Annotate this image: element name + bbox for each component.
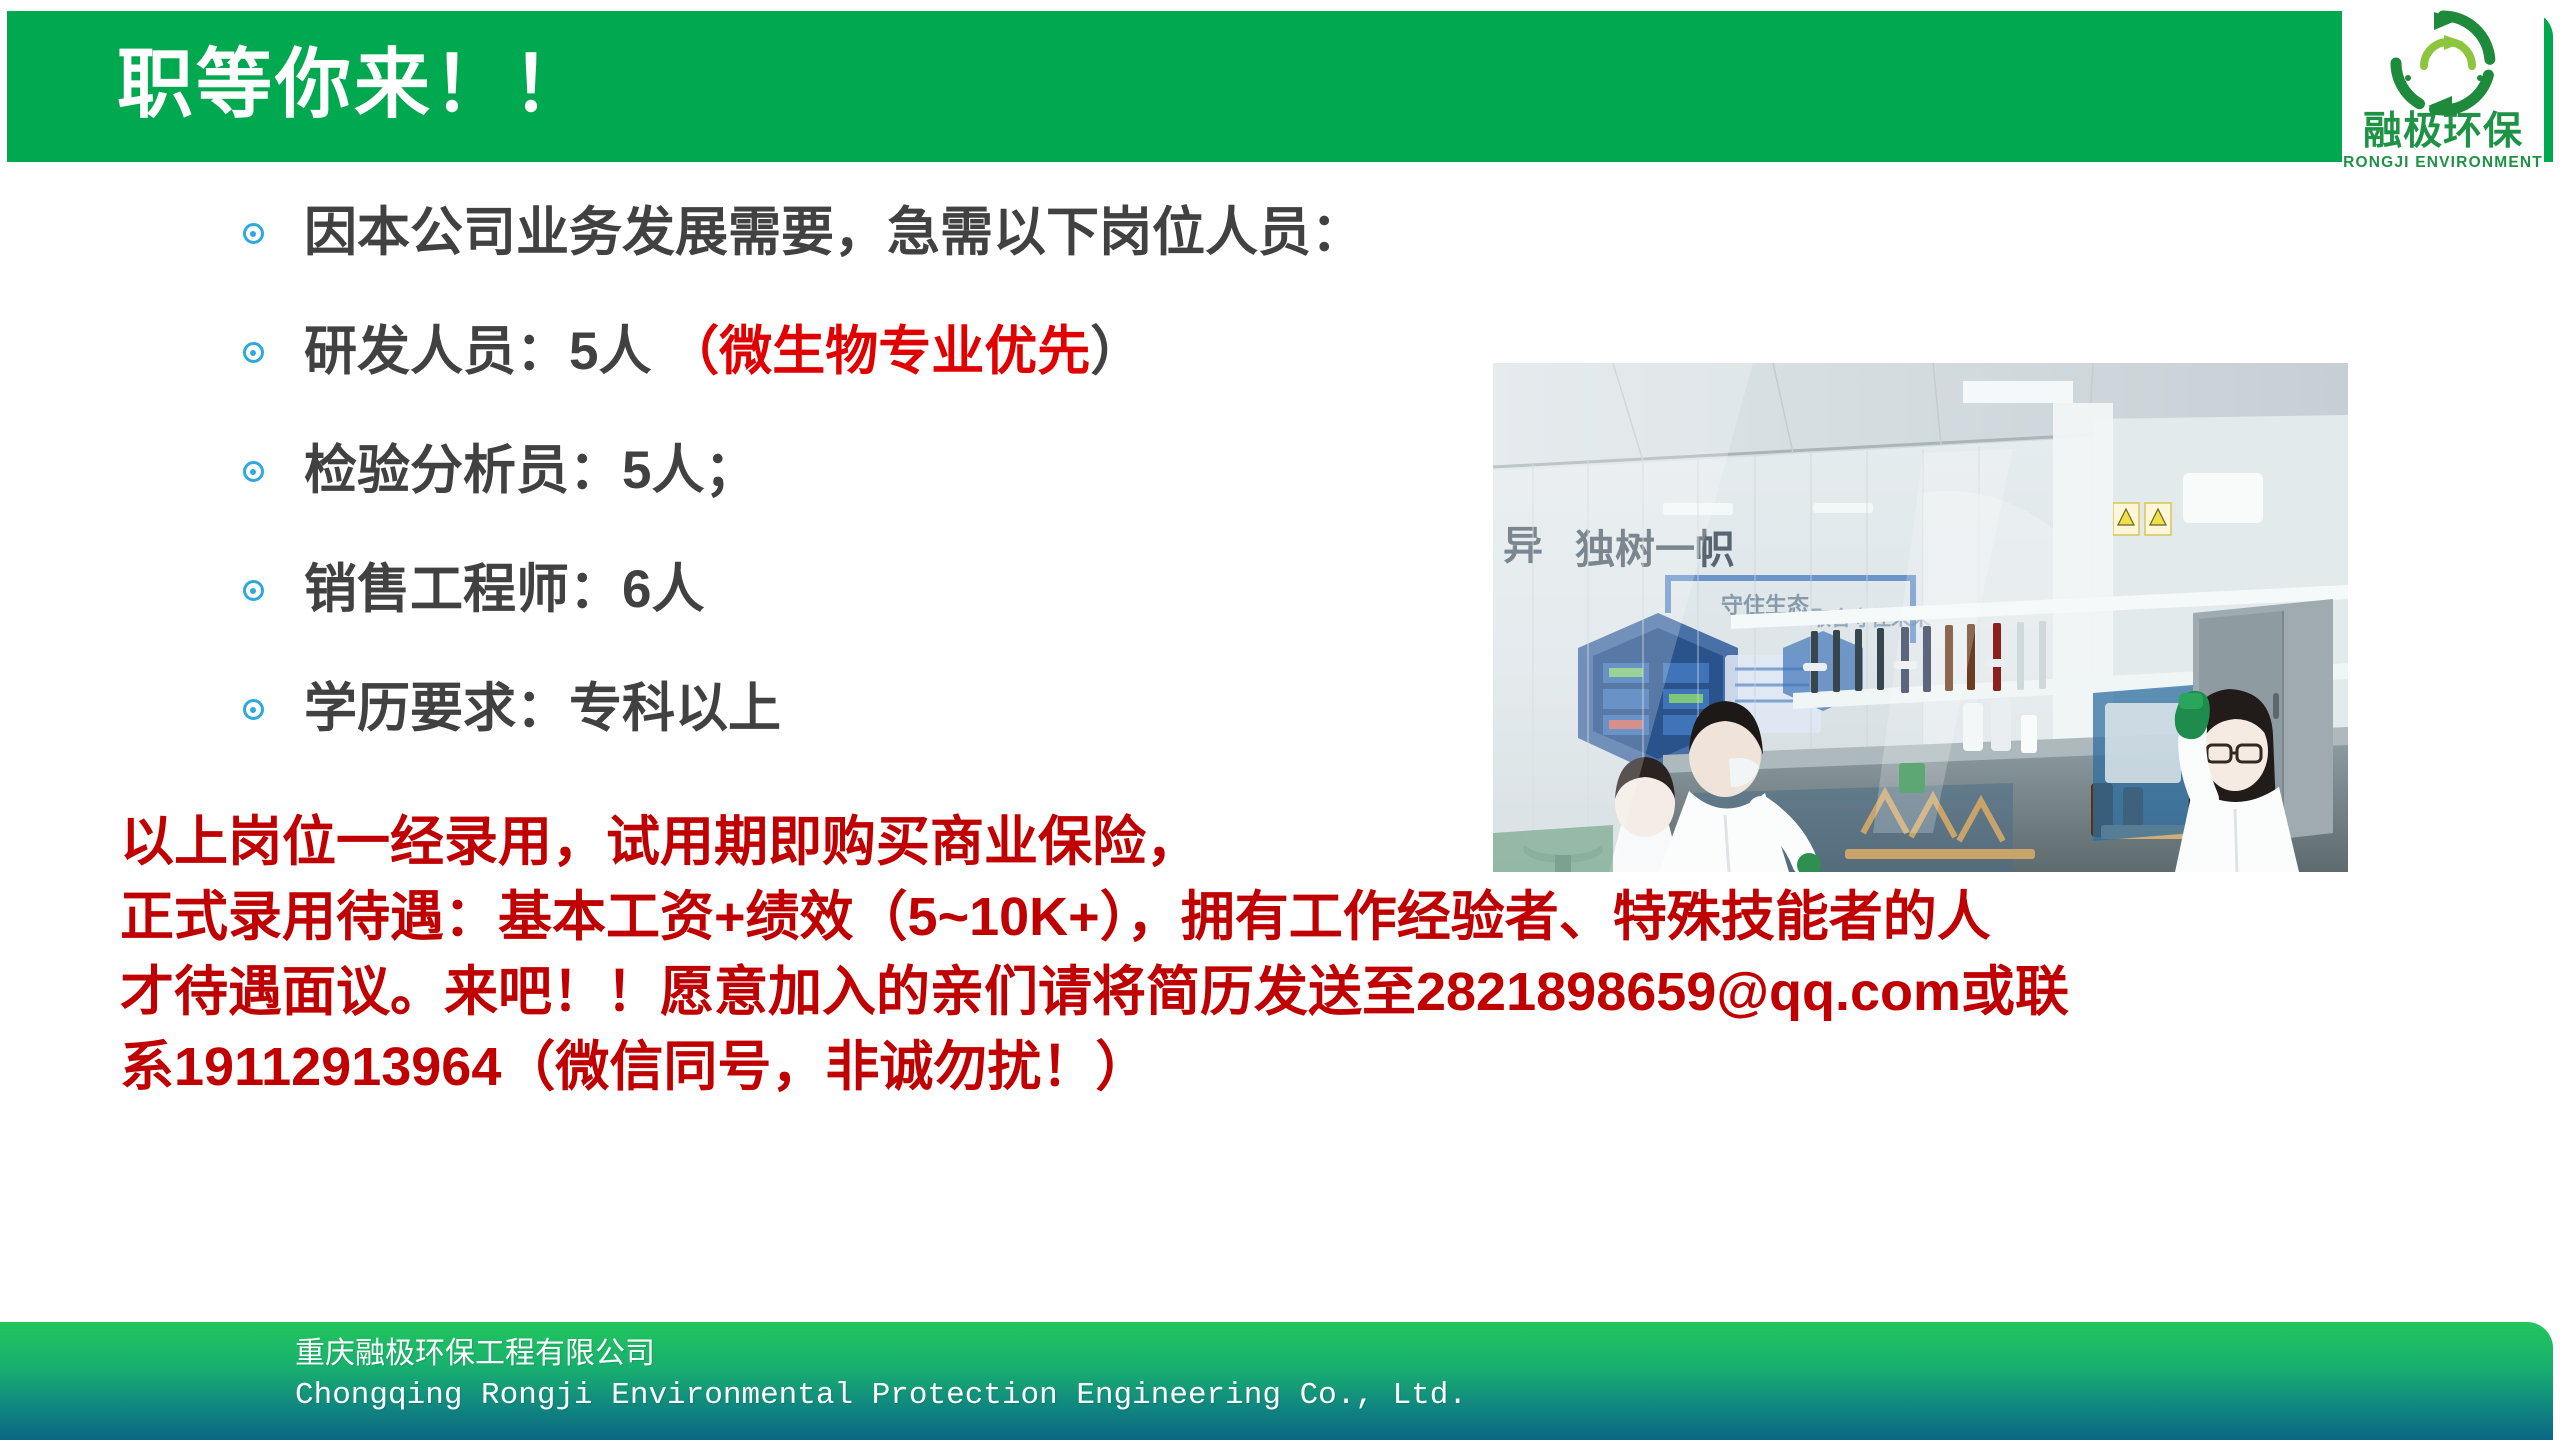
page-title: 职等你来！！ <box>117 47 591 123</box>
laboratory-photo: 异 独树一帜 守住生态 取舍守住未来 <box>1493 363 2348 872</box>
circled-dot-bullet-icon <box>236 342 270 363</box>
list-item-text: 研发人员：5人 <box>304 322 666 381</box>
circled-dot-bullet-icon <box>236 461 270 482</box>
recruitment-notice: 以上岗位一经录用，试用期即购买商业保险， 正式录用待遇：基本工资+绩效（5~10… <box>120 805 2520 1105</box>
list-item-label: 研发人员：5人 （微生物专业优先） <box>304 323 1143 381</box>
footer-bar: 重庆融极环保工程有限公司 Chongqing Rongji Environmen… <box>0 1322 2553 1440</box>
list-item: 销售工程师：6人 <box>236 553 1496 628</box>
list-item-label: 检验分析员：5人； <box>304 442 757 500</box>
list-item: 因本公司业务发展需要，急需以下岗位人员： <box>236 196 1496 271</box>
title-banner: 职等你来！！ <box>7 11 2553 162</box>
list-item-tail: ） <box>1090 322 1143 381</box>
logo-name-en: RONGJI ENVIRONMENT <box>2343 155 2543 171</box>
list-item-label: 销售工程师：6人 <box>304 561 704 619</box>
list-item: 研发人员：5人 （微生物专业优先） <box>236 315 1496 390</box>
footer-company-en: Chongqing Rongji Environmental Protectio… <box>295 1374 1467 1418</box>
company-logo: 融极环保 RONGJI ENVIRONMENT <box>2342 0 2544 205</box>
notice-line: 正式录用待遇：基本工资+绩效（5~10K+），拥有工作经验者、特殊技能者的人 <box>120 880 2520 955</box>
footer-company-block: 重庆融极环保工程有限公司 Chongqing Rongji Environmen… <box>295 1334 1467 1418</box>
notice-line: 系19112913964（微信同号，非诚勿扰！） <box>120 1030 2520 1105</box>
footer-company-cn: 重庆融极环保工程有限公司 <box>295 1334 1467 1374</box>
circled-dot-bullet-icon <box>236 223 270 244</box>
list-item-highlight: （微生物专业优先 <box>666 322 1090 381</box>
recycle-ring-icon <box>2388 8 2498 118</box>
list-item-label: 学历要求：专科以上 <box>304 680 781 738</box>
job-requirements-list: 因本公司业务发展需要，急需以下岗位人员： 研发人员：5人 （微生物专业优先） 检… <box>236 196 1496 791</box>
circled-dot-bullet-icon <box>236 580 270 601</box>
circled-dot-bullet-icon <box>236 699 270 720</box>
notice-line: 才待遇面议。来吧！！愿意加入的亲们请将简历发送至2821898659@qq.co… <box>120 955 2520 1030</box>
notice-line: 以上岗位一经录用，试用期即购买商业保险， <box>120 805 2520 880</box>
list-item-label: 因本公司业务发展需要，急需以下岗位人员： <box>304 204 1364 262</box>
slide-root: 职等你来！！ 融极环保 RONGJI ENVIRONMENT <box>0 0 2560 1440</box>
list-item: 检验分析员：5人； <box>236 434 1496 509</box>
list-item: 学历要求：专科以上 <box>236 672 1496 747</box>
